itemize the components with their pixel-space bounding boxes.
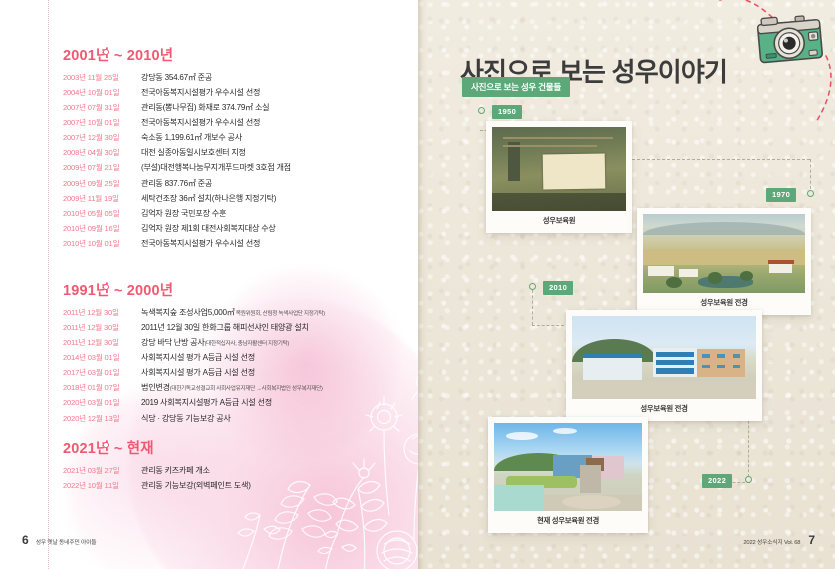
timeline-event: 김억자 원장 국민포장 수훈: [141, 210, 226, 219]
photo-detail: [679, 269, 698, 277]
photo-detail: [656, 352, 695, 357]
photo-detail: [643, 222, 805, 235]
timeline-event: 전국아동복지시설평가 우수시설 선정: [141, 240, 260, 249]
year-badge-1950: 1950: [492, 105, 522, 119]
page-number: 7: [808, 533, 815, 547]
photo-image-2022: [494, 423, 642, 511]
right-page: 사진으로 보는 성우이야기 사진으로 보는 성우 건물들: [418, 0, 835, 569]
timeline-row: 2010년 05월 05일김억자 원장 국민포장 수훈: [0, 210, 380, 219]
timeline-row: 2004년 10월 01일전국아동복지시설평가 우수시설 선정: [0, 89, 380, 98]
photo-detail: [768, 260, 794, 264]
photo-detail: [717, 365, 725, 368]
photo-detail: [702, 365, 710, 368]
photo-card-1970[interactable]: 성우보육원 전경: [637, 208, 811, 315]
timeline-row: 2014년 03월 01일사회복지시설 평가 A등급 시설 선정: [0, 354, 380, 363]
photo-detail: [733, 365, 741, 368]
timeline-event-main: 법인변경: [141, 383, 170, 392]
timeline-section-heading: 2001년 ~ 2010년: [63, 44, 380, 65]
timeline-marker-dot-icon: [478, 107, 485, 114]
circle-bullet-icon: [103, 442, 109, 448]
photo-detail: [656, 360, 695, 365]
timeline-event-note: 목원위원회, 산림청 녹색사업단 지정기탁): [235, 311, 325, 317]
timeline-event-main: 강당 바닥 난방 공사: [141, 338, 205, 347]
photo-detail: [572, 381, 756, 399]
timeline-date: 2009년 07월 21일: [63, 164, 141, 172]
photo-detail: [508, 142, 520, 181]
timeline-row: 2009년 07월 21일(부설)대전행복나눔무지개푸드마켓 3호점 개점: [0, 164, 380, 173]
photo-image-1970: [643, 214, 805, 293]
photo-detail: [503, 137, 613, 139]
timeline-date: 2017년 03월 01일: [63, 369, 141, 377]
left-page: 2001년 ~ 2010년 2003년 11월 25일강당동 354.67㎡ 준…: [0, 0, 418, 569]
timeline-event: 숙소동 1,199.61㎡ 개보수 공사: [141, 134, 242, 143]
timeline-section-heading: 2021년 ~ 현재: [63, 437, 380, 458]
year-badge-2010: 2010: [543, 281, 573, 295]
photo-detail: [580, 465, 601, 493]
timeline-date: 2010년 05월 05일: [63, 210, 141, 218]
year-badge-2022: 2022: [702, 474, 732, 488]
timeline-row-list: 2003년 11월 25일강당동 354.67㎡ 준공 2004년 10월 01…: [0, 74, 380, 249]
timeline-row: 2011년 12월 30일2011년 12월 30일 한화그룹 해피선샤인 태양…: [0, 324, 380, 333]
timeline-event: 관리동 키즈카페 개소: [141, 467, 210, 476]
photo-detail: [506, 432, 539, 440]
photo-card-2022[interactable]: 현재 성우보육원 전경: [488, 417, 648, 533]
photo-detail: [769, 263, 792, 273]
photo-detail: [697, 349, 745, 377]
photo-detail-sign: [543, 153, 605, 189]
timeline-row: 2011년 12월 30일녹색복지숲 조성사업5,000㎡ 목원위원회, 산림청…: [0, 309, 380, 318]
timeline-section-heading: 1991년 ~ 2000년: [63, 279, 380, 300]
timeline-date: 2009년 11월 19일: [63, 195, 141, 203]
timeline-row: 2022년 10월 11일관리동 기능보강(외벽페인트 도색): [0, 482, 380, 491]
timeline-date: 2008년 04월 30일: [63, 149, 141, 157]
history-timeline: 2001년 ~ 2010년 2003년 11월 25일강당동 354.67㎡ 준…: [0, 0, 418, 569]
timeline-row: 2007년 10월 01일전국아동복지시설평가 우수시설 선정: [0, 119, 380, 128]
timeline-row: 2011년 12월 30일강당 바닥 난방 공사(대한적십자사, 충남자활센터 …: [0, 339, 380, 348]
timeline-event: 세탁건조장 36㎡ 설치(하나은행 지정기탁): [141, 195, 276, 204]
timeline-date: 2010년 10월 01일: [63, 240, 141, 248]
photo-image-1950: [492, 127, 626, 211]
footer-text: 성우 옛날 동네주민 아이들: [36, 537, 97, 546]
timeline-row: 2020년 03월 01일2019 사회복지시설평가 A등급 시설 선정: [0, 399, 380, 408]
left-page-footer: 6 성우 옛날 동네주민 아이들: [22, 533, 96, 547]
timeline-event: 김억자 원장 제1회 대전사회복지대상 수상: [141, 225, 276, 234]
timeline-date: 2020년 12월 13일: [63, 415, 141, 423]
timeline-row: 2010년 09월 16일김억자 원장 제1회 대전사회복지대상 수상: [0, 225, 380, 234]
circle-bullet-icon: [103, 284, 109, 290]
timeline-event: 법인변경(대한기독교성결교회 사회사업유지재단 →사회복지법인 성우복지재단): [141, 384, 323, 393]
photo-caption: 성우보육원: [492, 211, 626, 230]
timeline-marker-dot-icon: [807, 190, 814, 197]
timeline-date: 2003년 11월 25일: [63, 74, 141, 82]
timeline-row: 2008년 04월 30일대전 실종아동일시보호센터 지정: [0, 149, 380, 158]
footer-text: 2022 성우소식지 Vol. 68: [743, 537, 800, 546]
timeline-event-main: 2011년 12월 30일 한화그룹 해피선샤인 태양광 설치: [141, 323, 309, 332]
timeline-section-2021-present: 2021년 ~ 현재 2021년 03월 27일관리동 키즈카페 개소 2022…: [0, 437, 380, 497]
timeline-date: 2011년 12월 30일: [63, 324, 141, 332]
timeline-row: 2003년 11월 25일강당동 354.67㎡ 준공: [0, 74, 380, 83]
timeline-date: 2004년 10월 01일: [63, 89, 141, 97]
timeline-section-1991-2000: 1991년 ~ 2000년 2011년 12월 30일녹색복지숲 조성사업5,0…: [0, 279, 380, 430]
page-number: 6: [22, 533, 29, 547]
page-gutter-shadow: [418, 0, 427, 569]
connector-line: [632, 159, 810, 160]
timeline-event: 전국아동복지시설평가 우수시설 선정: [141, 119, 260, 128]
timeline-event-note: (대한적십자사, 충남자활센터 지정기탁): [205, 341, 289, 347]
timeline-event-note: (대한기독교성결교회 사회사업유지재단 →사회복지법인 성우복지재단): [170, 386, 323, 392]
timeline-row-list: 2011년 12월 30일녹색복지숲 조성사업5,000㎡ 목원위원회, 산림청…: [0, 309, 380, 423]
connector-line-vertical: [810, 159, 811, 189]
timeline-event: 식당 · 강당동 기능보강 공사: [141, 415, 231, 424]
timeline-event-main: 녹색복지숲 조성사업5,000㎡: [141, 308, 235, 317]
timeline-date: 2011년 12월 30일: [63, 339, 141, 347]
photo-card-1950[interactable]: 성우보육원: [486, 121, 632, 233]
photo-caption: 현재 성우보육원 전경: [494, 511, 642, 530]
timeline-event: 전국아동복지시설평가 우수시설 선정: [141, 89, 260, 98]
timeline-marker-dot-icon: [529, 283, 536, 290]
timeline-row-list: 2021년 03월 27일관리동 키즈카페 개소 2022년 10월 11일관리…: [0, 467, 380, 491]
timeline-date: 2014년 03월 01일: [63, 354, 141, 362]
photo-card-2010[interactable]: 성우보육원 전경: [566, 310, 762, 421]
photo-detail: [494, 485, 544, 511]
timeline-event: 2019 사회복지시설평가 A등급 시설 선정: [141, 399, 272, 408]
timeline-event-main: 2019 사회복지시설평가 A등급 시설 선정: [141, 398, 272, 407]
timeline-event: 녹색복지숲 조성사업5,000㎡ 목원위원회, 산림청 녹색사업단 지정기탁): [141, 309, 325, 318]
connector-line-vertical: [532, 290, 533, 325]
timeline-event-main: 사회복지시설 평가 A등급 시설 선정: [141, 368, 255, 377]
timeline-date: 2010년 09월 16일: [63, 225, 141, 233]
timeline-event: 대전 실종아동일시보호센터 지정: [141, 149, 246, 158]
timeline-row: 2009년 09월 25일관리동 837.76㎡ 준공: [0, 180, 380, 189]
timeline-event: (부설)대전행복나눔무지개푸드마켓 3호점 개점: [141, 164, 291, 173]
photo-detail: [733, 354, 741, 357]
photo-detail: [492, 193, 626, 211]
camera-icon: [753, 8, 831, 74]
timeline-row: 2020년 12월 13일식당 · 강당동 기능보강 공사: [0, 415, 380, 424]
photo-detail: [666, 277, 682, 288]
timeline-event: 사회복지시설 평가 A등급 시설 선정: [141, 369, 255, 378]
timeline-row: 2017년 03월 01일사회복지시설 평가 A등급 시설 선정: [0, 369, 380, 378]
timeline-marker-dot-icon: [745, 476, 752, 483]
photo-detail: [702, 354, 710, 357]
photo-caption: 성우보육원 전경: [572, 399, 756, 418]
timeline-heading-text: 2001년 ~ 2010년: [63, 48, 173, 64]
photo-detail: [648, 266, 674, 275]
timeline-row: 2007년 12월 30일숙소동 1,199.61㎡ 개보수 공사: [0, 134, 380, 143]
timeline-event: 관리동 837.76㎡ 준공: [141, 180, 212, 189]
timeline-event: 관리동 기능보강(외벽페인트 도색): [141, 482, 251, 491]
magazine-spread: 2001년 ~ 2010년 2003년 11월 25일강당동 354.67㎡ 준…: [0, 0, 835, 569]
connector-line: [532, 325, 564, 326]
timeline-row: 2018년 01월 07일법인변경(대한기독교성결교회 사회사업유지재단 →사회…: [0, 384, 380, 393]
circle-bullet-icon: [103, 49, 109, 55]
timeline-event: 강당 바닥 난방 공사(대한적십자사, 충남자활센터 지정기탁): [141, 339, 289, 348]
photo-detail: [717, 354, 725, 357]
photo-detail: [708, 272, 723, 283]
right-page-footer: 2022 성우소식지 Vol. 68 7: [743, 533, 815, 547]
timeline-row: 2007년 07월 31일관리동(뽕나무집) 화재로 374.79㎡ 소실: [0, 104, 380, 113]
photo-image-2010: [572, 316, 756, 399]
timeline-event: 2011년 12월 30일 한화그룹 해피선샤인 태양광 설치: [141, 324, 309, 333]
timeline-row: 2021년 03월 27일관리동 키즈카페 개소: [0, 467, 380, 476]
timeline-date: 2021년 03월 27일: [63, 467, 141, 475]
timeline-event: 강당동 354.67㎡ 준공: [141, 74, 212, 83]
timeline-row: 2009년 11월 19일세탁건조장 36㎡ 설치(하나은행 지정기탁): [0, 195, 380, 204]
year-badge-1970: 1970: [766, 188, 796, 202]
photo-detail: [503, 145, 597, 147]
section-subtitle-badge: 사진으로 보는 성우 건물들: [462, 77, 570, 97]
timeline-date: 2022년 10월 11일: [63, 482, 141, 490]
photo-detail: [656, 368, 695, 373]
timeline-row: 2010년 10월 01일전국아동복지시설평가 우수시설 선정: [0, 240, 380, 249]
timeline-date: 2009년 09월 25일: [63, 180, 141, 188]
timeline-date: 2011년 12월 30일: [63, 309, 141, 317]
photo-detail: [653, 348, 697, 378]
timeline-heading-text: 1991년 ~ 2000년: [63, 283, 173, 299]
timeline-event-main: 식당 · 강당동 기능보강 공사: [141, 414, 231, 423]
timeline-event: 관리동(뽕나무집) 화재로 374.79㎡ 소실: [141, 104, 269, 113]
timeline-event: 사회복지시설 평가 A등급 시설 선정: [141, 354, 255, 363]
timeline-date: 2007년 10월 01일: [63, 119, 141, 127]
photo-detail: [583, 354, 642, 380]
photo-detail: [553, 428, 577, 434]
timeline-date: 2007년 07월 31일: [63, 104, 141, 112]
timeline-date: 2018년 01월 07일: [63, 384, 141, 392]
timeline-date: 2007년 12월 30일: [63, 134, 141, 142]
timeline-section-2001-2010: 2001년 ~ 2010년 2003년 11월 25일강당동 354.67㎡ 준…: [0, 44, 380, 255]
timeline-date: 2020년 03월 01일: [63, 399, 141, 407]
timeline-event-main: 사회복지시설 평가 A등급 시설 선정: [141, 353, 255, 362]
